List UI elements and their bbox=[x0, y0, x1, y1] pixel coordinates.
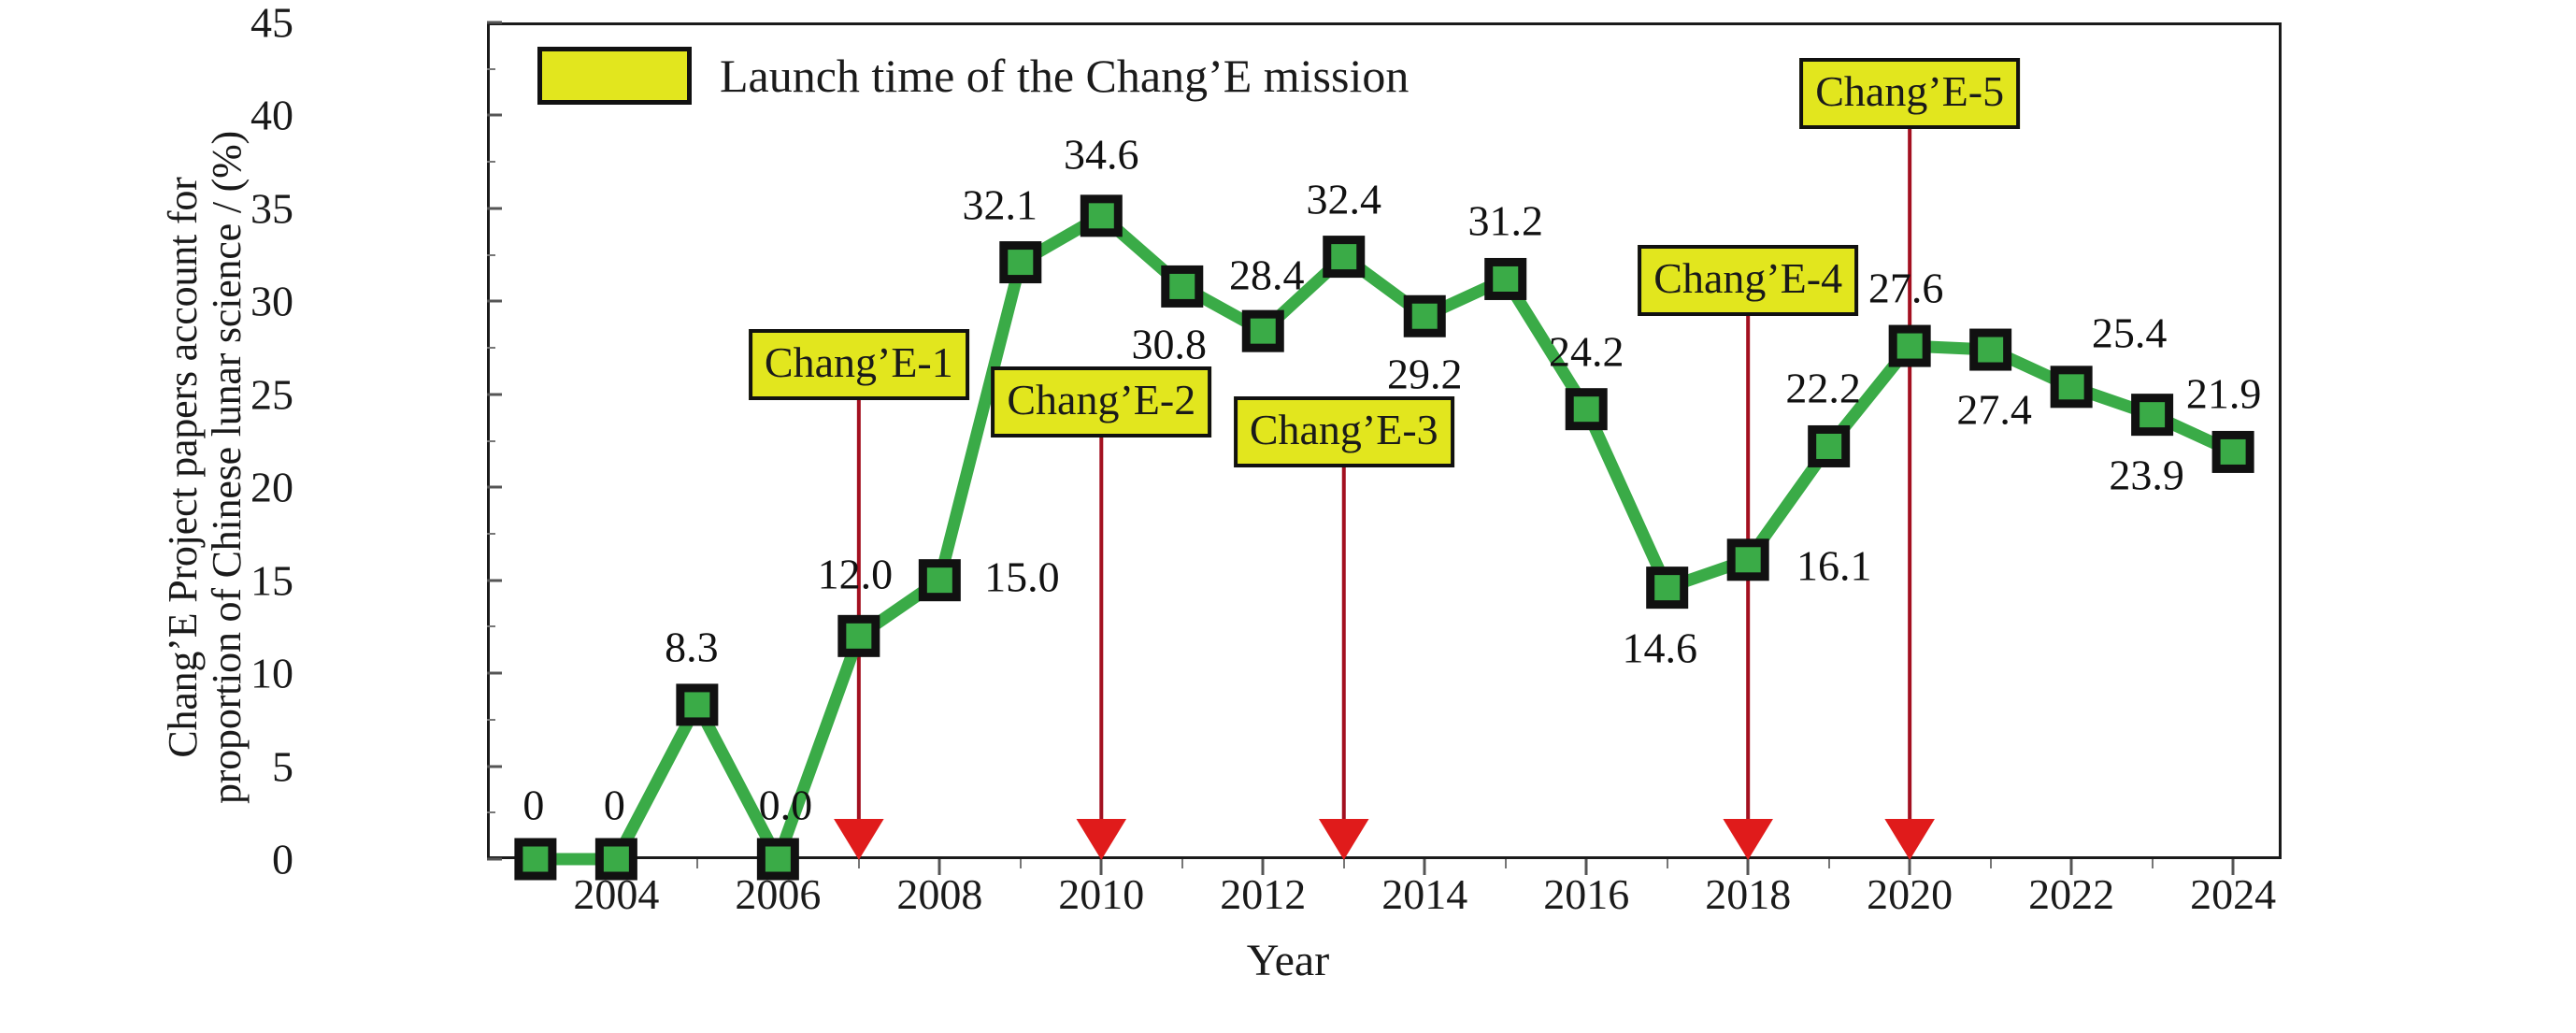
x-tick-label: 2024 bbox=[2190, 869, 2276, 919]
legend-swatch-icon bbox=[537, 47, 692, 105]
y-tick-mark bbox=[487, 393, 502, 395]
y-tick-label: 30 bbox=[250, 277, 293, 326]
x-minor-tick bbox=[1667, 859, 1668, 868]
y-minor-tick bbox=[487, 254, 495, 256]
x-tick-label: 2010 bbox=[1058, 869, 1144, 919]
y-axis-title-line-2: proportion of Chinese lunar science / (%… bbox=[206, 131, 250, 804]
x-minor-tick bbox=[1505, 859, 1507, 868]
data-point-label: 28.4 bbox=[1229, 251, 1305, 300]
y-tick-label: 15 bbox=[250, 555, 293, 605]
x-tick-label: 2004 bbox=[573, 869, 659, 919]
data-point-label: 32.1 bbox=[963, 179, 1038, 229]
data-point-label: 31.2 bbox=[1467, 196, 1543, 246]
x-minor-tick bbox=[2152, 859, 2154, 868]
data-point-label: 0 bbox=[604, 781, 625, 830]
x-tick-mark bbox=[1424, 859, 1426, 875]
x-tick-mark bbox=[2070, 859, 2073, 875]
x-tick-mark bbox=[777, 859, 780, 875]
data-point-label: 22.2 bbox=[1785, 364, 1861, 413]
mission-label-box: Chang’E-4 bbox=[1638, 245, 1858, 316]
data-point-label: 29.2 bbox=[1387, 350, 1463, 399]
x-axis-title: Year bbox=[0, 935, 2576, 986]
y-axis-title-line-1: Chang’E Project papers account for bbox=[162, 177, 206, 757]
y-tick-mark bbox=[487, 579, 502, 581]
x-tick-mark bbox=[938, 859, 941, 875]
data-point-label: 27.6 bbox=[1868, 264, 1944, 313]
x-minor-tick bbox=[1828, 859, 1830, 868]
y-tick-mark bbox=[487, 672, 502, 675]
mission-label-box: Chang’E-5 bbox=[1799, 58, 2020, 129]
data-point-label: 30.8 bbox=[1132, 320, 1208, 369]
y-tick-label: 5 bbox=[272, 741, 293, 791]
y-tick-label: 45 bbox=[250, 0, 293, 48]
y-tick-mark bbox=[487, 765, 502, 768]
x-tick-mark bbox=[1909, 859, 1911, 875]
y-tick-mark bbox=[487, 114, 502, 117]
data-point-label: 12.0 bbox=[818, 550, 894, 599]
x-tick-label: 2016 bbox=[1543, 869, 1629, 919]
data-point-label: 0.0 bbox=[759, 781, 813, 830]
mission-label-box: Chang’E-1 bbox=[749, 329, 969, 400]
y-minor-tick bbox=[487, 440, 495, 442]
legend: Launch time of the Chang’E mission bbox=[537, 47, 1409, 105]
y-tick-label: 25 bbox=[250, 369, 293, 419]
y-tick-mark bbox=[487, 858, 502, 861]
data-point-label: 0 bbox=[522, 781, 544, 830]
x-minor-tick bbox=[1990, 859, 1992, 868]
x-tick-label: 2018 bbox=[1705, 869, 1791, 919]
x-tick-mark bbox=[1585, 859, 1588, 875]
y-axis-title: Chang’E Project papers account for propo… bbox=[150, 47, 262, 888]
data-point-label: 21.9 bbox=[2186, 369, 2262, 419]
legend-label: Launch time of the Chang’E mission bbox=[720, 49, 1409, 103]
data-point-label: 14.6 bbox=[1622, 623, 1697, 672]
data-point-label: 23.9 bbox=[2109, 450, 2184, 499]
y-tick-mark bbox=[487, 486, 502, 489]
y-tick-mark bbox=[487, 300, 502, 303]
x-minor-tick bbox=[535, 859, 537, 868]
y-minor-tick bbox=[487, 719, 495, 721]
x-minor-tick bbox=[858, 859, 860, 868]
data-point-label: 15.0 bbox=[984, 552, 1060, 601]
y-tick-mark bbox=[487, 22, 502, 24]
data-point-label: 24.2 bbox=[1549, 326, 1624, 376]
y-tick-label: 20 bbox=[250, 463, 293, 512]
x-tick-label: 2008 bbox=[896, 869, 982, 919]
data-point-label: 32.4 bbox=[1307, 174, 1382, 223]
x-tick-label: 2020 bbox=[1867, 869, 1953, 919]
data-point-label: 25.4 bbox=[2092, 308, 2168, 357]
x-minor-tick bbox=[696, 859, 698, 868]
data-point-label: 27.4 bbox=[1956, 385, 2032, 435]
y-minor-tick bbox=[487, 68, 495, 70]
chart-root: Chang’E Project papers account for propo… bbox=[0, 0, 2576, 1033]
y-tick-label: 10 bbox=[250, 649, 293, 698]
x-tick-mark bbox=[1100, 859, 1103, 875]
x-tick-mark bbox=[1262, 859, 1265, 875]
x-minor-tick bbox=[1343, 859, 1345, 868]
x-tick-label: 2012 bbox=[1220, 869, 1306, 919]
y-tick-label: 0 bbox=[272, 835, 293, 884]
x-minor-tick bbox=[1020, 859, 1022, 868]
y-minor-tick bbox=[487, 533, 495, 535]
mission-label-box: Chang’E-3 bbox=[1234, 396, 1454, 467]
data-point-label: 16.1 bbox=[1796, 540, 1872, 590]
y-tick-label: 40 bbox=[250, 91, 293, 140]
y-minor-tick bbox=[487, 347, 495, 349]
y-minor-tick bbox=[487, 161, 495, 163]
data-point-label: 34.6 bbox=[1064, 129, 1139, 179]
y-tick-mark bbox=[487, 207, 502, 209]
x-tick-label: 2014 bbox=[1381, 869, 1467, 919]
y-minor-tick bbox=[487, 811, 495, 813]
x-tick-mark bbox=[2232, 859, 2235, 875]
x-minor-tick bbox=[1181, 859, 1183, 868]
x-tick-mark bbox=[615, 859, 618, 875]
mission-label-box: Chang’E-2 bbox=[991, 366, 1211, 438]
x-tick-mark bbox=[1747, 859, 1750, 875]
x-tick-label: 2022 bbox=[2028, 869, 2114, 919]
y-minor-tick bbox=[487, 625, 495, 627]
y-tick-label: 35 bbox=[250, 183, 293, 233]
x-tick-label: 2006 bbox=[735, 869, 821, 919]
data-point-label: 8.3 bbox=[665, 622, 719, 671]
